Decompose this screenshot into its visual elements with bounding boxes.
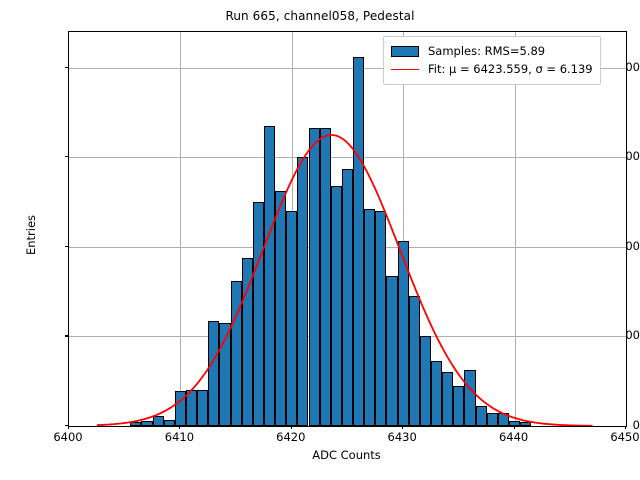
x-tick-label: 6450 [610, 430, 639, 444]
gridline-vertical [515, 32, 516, 426]
y-axis-label: Entries [24, 135, 38, 335]
legend-item-samples: Samples: RMS=5.89 [391, 42, 593, 60]
histogram-bar [130, 422, 141, 426]
legend-patch-icon [391, 46, 419, 57]
legend-label-samples: Samples: RMS=5.89 [428, 44, 545, 58]
histogram-bar [253, 202, 264, 426]
histogram-bar [364, 209, 375, 426]
histogram-bar [164, 420, 175, 426]
gridline-vertical [180, 32, 181, 426]
x-tick-label: 6420 [276, 430, 305, 444]
histogram-bar [242, 258, 253, 426]
histogram-bar [476, 406, 487, 426]
legend-line-icon [391, 69, 419, 70]
histogram-bar [320, 128, 331, 426]
histogram-bar [409, 296, 420, 426]
legend-label-fit: Fit: μ = 6423.559, σ = 6.139 [428, 62, 593, 76]
histogram-bar [309, 128, 320, 426]
legend: Samples: RMS=5.89 Fit: μ = 6423.559, σ =… [383, 36, 601, 85]
histogram-bar [353, 57, 364, 426]
histogram-bar [342, 169, 353, 426]
x-axis-label: ADC Counts [68, 448, 625, 462]
histogram-bar [420, 336, 431, 426]
x-tick-label: 6400 [53, 430, 82, 444]
histogram-bar [487, 413, 498, 426]
histogram-bar [398, 241, 409, 426]
plot-area [68, 31, 627, 427]
histogram-bar [231, 281, 242, 427]
histogram-bar [153, 416, 164, 426]
histogram-bar [509, 421, 520, 426]
histogram-bar [219, 323, 230, 426]
page-title: Run 665, channel058, Pedestal [0, 9, 640, 23]
histogram-bar [331, 186, 342, 426]
x-tick-label: 6430 [388, 430, 417, 444]
histogram-bar [375, 211, 386, 426]
histogram-bar [275, 191, 286, 426]
histogram-bar [175, 391, 186, 426]
histogram-bar [208, 321, 219, 426]
gridline-horizontal [69, 157, 626, 158]
x-tick-label: 6440 [499, 430, 528, 444]
legend-item-fit: Fit: μ = 6423.559, σ = 6.139 [391, 60, 593, 78]
histogram-bar [186, 390, 197, 426]
histogram-bar [141, 421, 152, 426]
x-tick-label: 6410 [165, 430, 194, 444]
histogram-bar [386, 276, 397, 426]
histogram-bar [264, 126, 275, 426]
histogram-bar [453, 386, 464, 426]
histogram-figure: Run 665, channel058, Pedestal Entries AD… [0, 0, 640, 480]
histogram-bar [297, 157, 308, 426]
histogram-bar [431, 361, 442, 426]
histogram-bar [464, 370, 475, 426]
histogram-bar [442, 372, 453, 426]
histogram-bar [498, 413, 509, 426]
histogram-bar [197, 390, 208, 426]
histogram-bar [520, 422, 531, 426]
histogram-bar [286, 211, 297, 426]
